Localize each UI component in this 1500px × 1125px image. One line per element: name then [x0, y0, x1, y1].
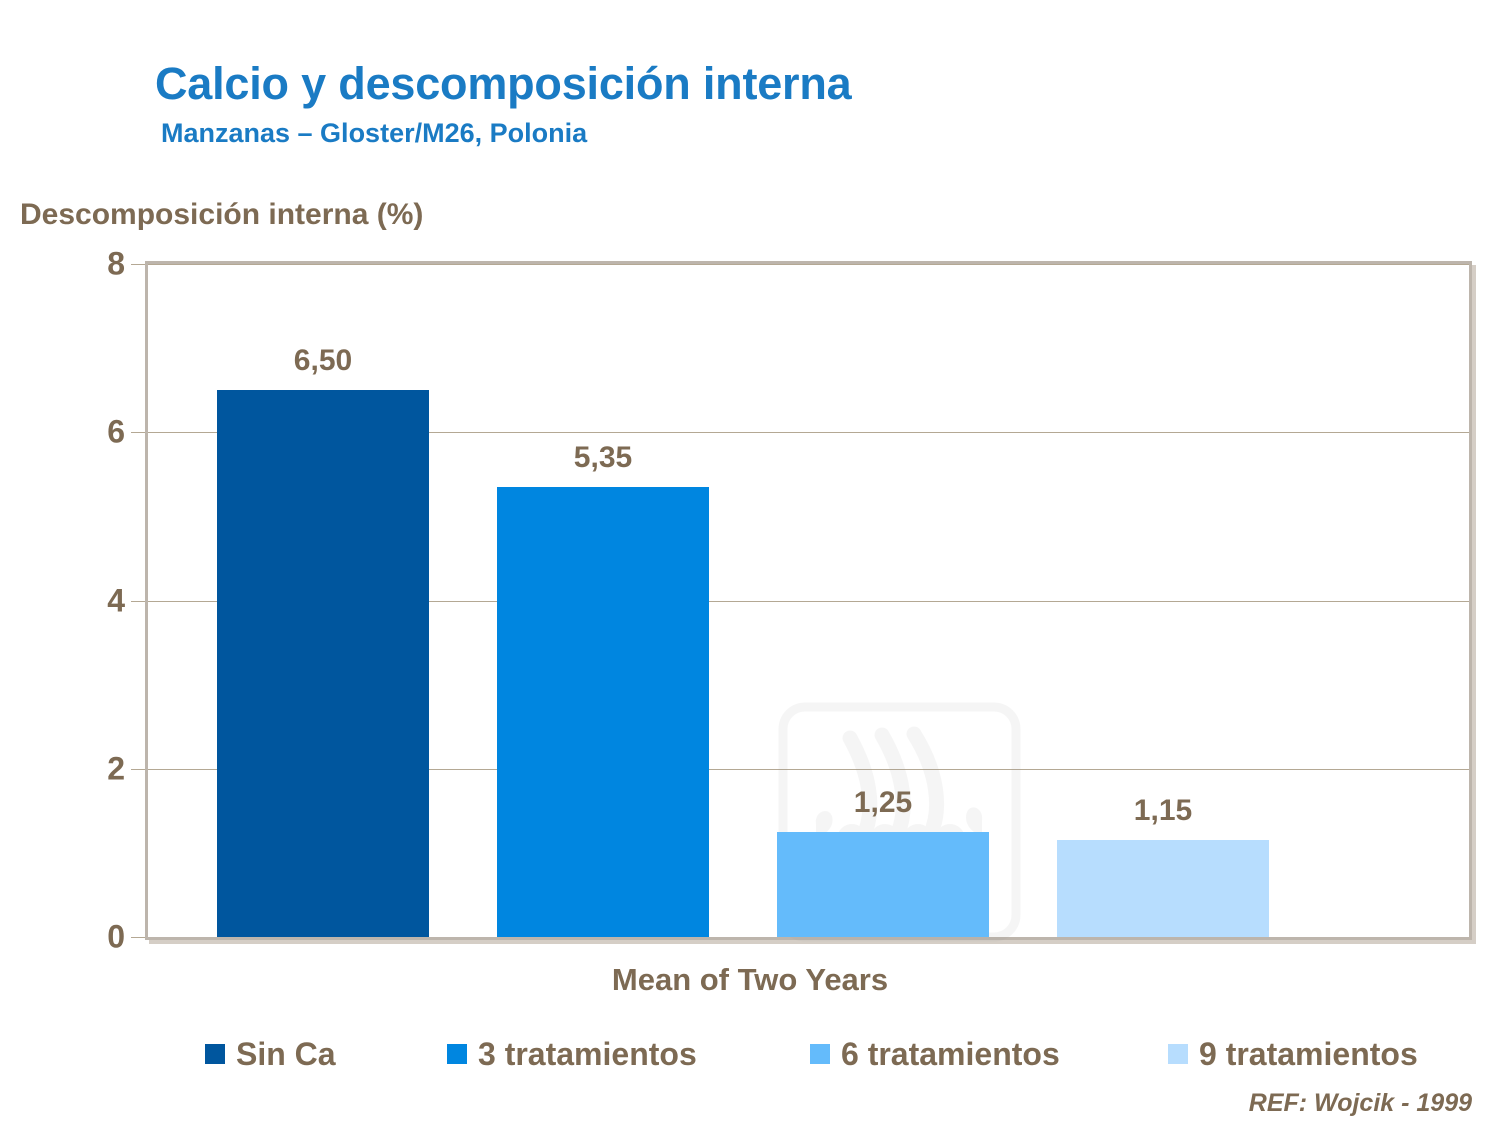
- y-axis-title: Descomposición interna (%): [20, 198, 423, 232]
- bar-value-label: 5,35: [574, 441, 632, 475]
- y-tick-label: 6: [85, 414, 125, 451]
- bar-1: [217, 390, 429, 937]
- legend-swatch-icon: [810, 1044, 830, 1064]
- tick-mark: [131, 432, 145, 433]
- legend-label: 3 tratamientos: [478, 1036, 697, 1073]
- page-subtitle: Manzanas – Gloster/M26, Polonia: [161, 118, 852, 149]
- legend-item-2[interactable]: 3 tratamientos: [447, 1036, 697, 1073]
- bar-4: [1057, 840, 1269, 937]
- legend-label: 6 tratamientos: [841, 1036, 1060, 1073]
- legend-swatch-icon: [1168, 1044, 1188, 1064]
- legend-label: 9 tratamientos: [1199, 1036, 1418, 1073]
- tick-mark: [131, 601, 145, 602]
- y-tick-label: 4: [85, 582, 125, 619]
- y-axis-ticks: 02468: [85, 261, 125, 940]
- gridline: [148, 264, 1469, 265]
- title-block: Calcio y descomposición interna Manzanas…: [155, 58, 852, 149]
- x-axis-title: Mean of Two Years: [0, 962, 1500, 998]
- tick-mark: [131, 937, 145, 938]
- legend-label: Sin Ca: [236, 1036, 336, 1073]
- y-tick-label: 0: [85, 919, 125, 956]
- legend-swatch-icon: [447, 1044, 467, 1064]
- bar-3: [777, 832, 989, 937]
- gridline-baseline: [148, 937, 1469, 938]
- reference-note: REF: Wojcik - 1999: [1249, 1089, 1472, 1118]
- y-tick-label: 8: [85, 246, 125, 283]
- legend-item-3[interactable]: 6 tratamientos: [810, 1036, 1060, 1073]
- legend-item-4[interactable]: 9 tratamientos: [1168, 1036, 1418, 1073]
- chart-legend: Sin Ca3 tratamientos6 tratamientos9 trat…: [150, 1032, 1470, 1076]
- plot-inner: YARA6,505,351,251,15: [148, 264, 1469, 937]
- plot-area: YARA6,505,351,251,15: [145, 261, 1472, 940]
- bar-value-label: 1,15: [1134, 794, 1192, 828]
- legend-item-1[interactable]: Sin Ca: [205, 1036, 336, 1073]
- slide-canvas: Calcio y descomposición interna Manzanas…: [0, 0, 1500, 1125]
- legend-swatch-icon: [205, 1044, 225, 1064]
- tick-mark: [131, 769, 145, 770]
- page-title: Calcio y descomposición interna: [155, 58, 852, 110]
- bar-2: [497, 487, 709, 937]
- bar-value-label: 1,25: [854, 786, 912, 820]
- y-tick-label: 2: [85, 750, 125, 787]
- tick-mark: [131, 264, 145, 265]
- bar-value-label: 6,50: [294, 344, 352, 378]
